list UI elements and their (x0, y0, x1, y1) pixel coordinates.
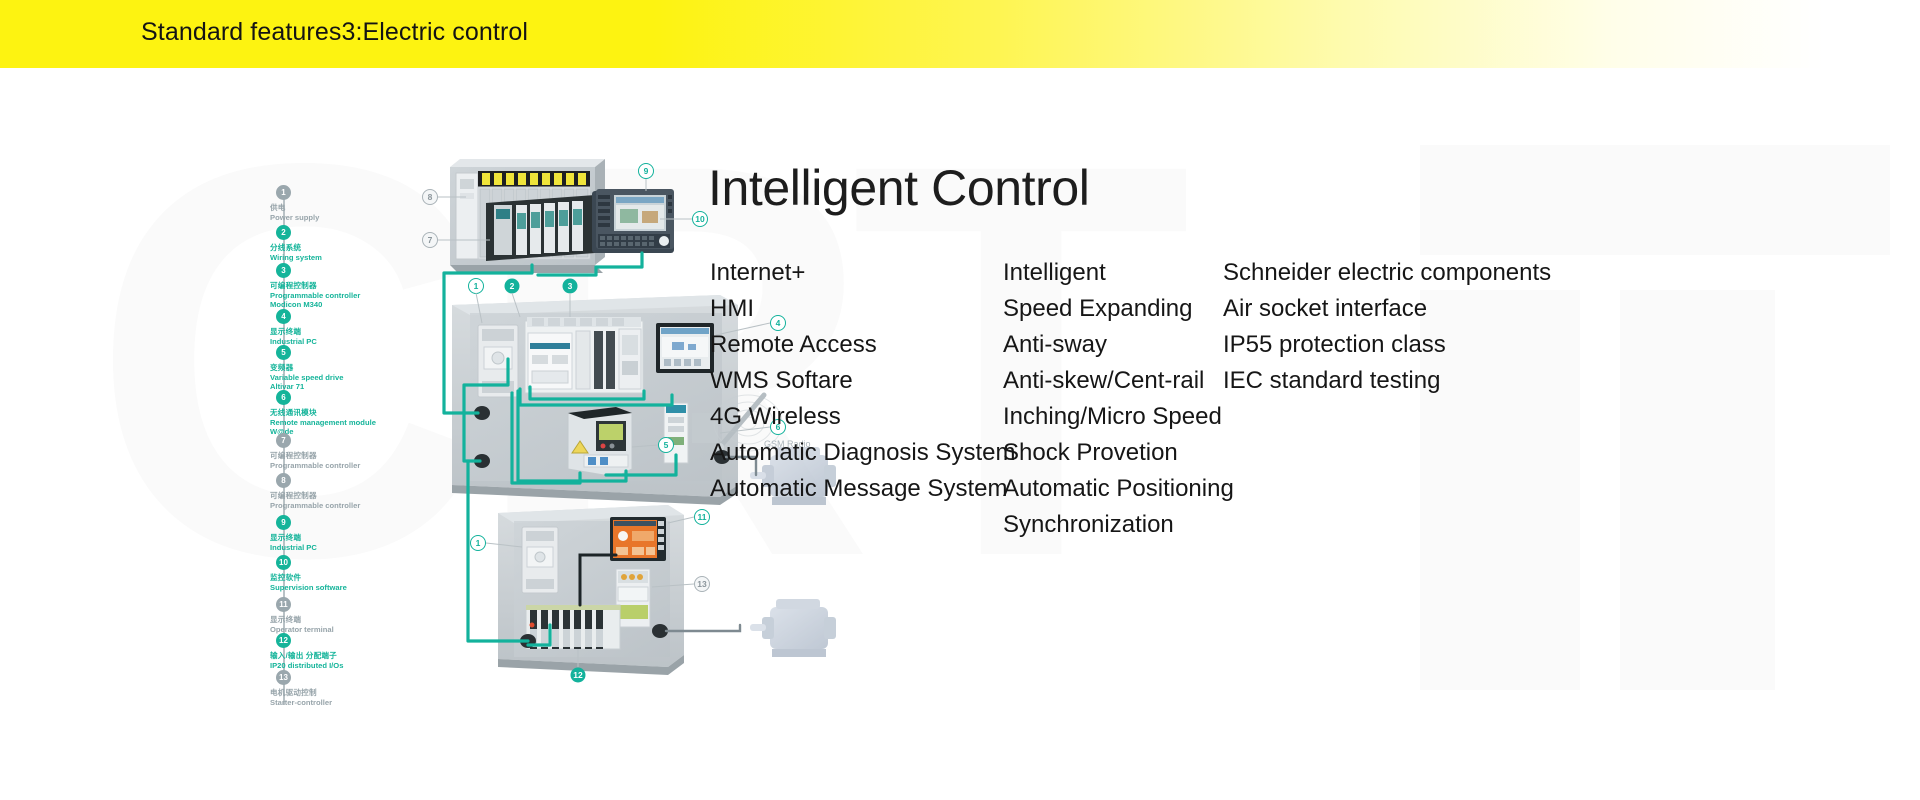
header-banner: Standard features3:Electric control (0, 0, 1920, 68)
legend-label-en: Starter-controller (270, 698, 332, 708)
legend-label-en: Wiring system (270, 253, 322, 263)
legend-label-en: Supervision software (270, 583, 347, 593)
legend-label-en: Programmable controller (270, 461, 360, 471)
feature-item: Internet+ (710, 255, 1010, 291)
page-title: Standard features3:Electric control (141, 18, 528, 47)
feature-item: WMS Softare (710, 363, 1010, 399)
content-pane: Intelligent Control Internet+HMIRemote A… (708, 160, 1918, 680)
svg-text:9: 9 (644, 166, 649, 176)
legend-item-12: 12输入/输出 分配端子IP20 distributed I/Os (270, 633, 343, 670)
legend-text: 分线系统Wiring system (270, 243, 322, 262)
legend-label-cn: 可编程控制器 (270, 281, 360, 291)
svg-text:10: 10 (695, 214, 705, 224)
legend-label-en: Industrial PC (270, 543, 317, 553)
legend-item-6: 6无线通讯模块Remote management moduleW@de (270, 390, 376, 437)
legend-text: 显示终端Operator terminal (270, 615, 334, 634)
feature-item: 4G Wireless (710, 399, 1010, 435)
svg-text:2: 2 (510, 281, 515, 291)
legend-number-5: 5 (276, 345, 291, 360)
legend-text: 监控软件Supervision software (270, 573, 347, 592)
legend-item-2: 2分线系统Wiring system (270, 225, 322, 262)
feature-item: Air socket interface (1223, 291, 1613, 327)
legend-number-1: 1 (276, 185, 291, 200)
legend-label-en: Remote management module (270, 418, 376, 428)
legend-number-2: 2 (276, 225, 291, 240)
legend-label-cn: 电机驱动控制 (270, 688, 332, 698)
feature-item: Automatic Positioning (1003, 471, 1273, 507)
feature-column-1: Internet+HMIRemote AccessWMS Softare4G W… (710, 255, 1010, 507)
feature-column-3: Schneider electric componentsAir socket … (1223, 255, 1613, 399)
svg-text:11: 11 (698, 512, 707, 522)
legend-text: 可编程控制器Programmable controller (270, 491, 360, 510)
legend-item-7: 7可编程控制器Programmable controller (270, 433, 360, 470)
top-operator-panel (592, 189, 674, 253)
svg-text:12: 12 (573, 670, 583, 680)
legend-item-1: 1供电Power supply (270, 185, 319, 222)
legend-number-3: 3 (276, 263, 291, 278)
legend-number-4: 4 (276, 309, 291, 324)
feature-item: HMI (710, 291, 1010, 327)
top-plc-rack (450, 159, 605, 273)
legend-item-8: 8可编程控制器Programmable controller (270, 473, 360, 510)
legend-text: 变频器Variable speed driveAltivar 71 (270, 363, 343, 392)
legend-number-12: 12 (276, 633, 291, 648)
legend-label-en: Power supply (270, 213, 319, 223)
legend-label-en: Programmable controller (270, 501, 360, 511)
legend-label-cn: 可编程控制器 (270, 491, 360, 501)
legend-number-10: 10 (276, 555, 291, 570)
legend-item-5: 5变频器Variable speed driveAltivar 71 (270, 345, 343, 392)
feature-item: Automatic Message System (710, 471, 1010, 507)
legend-label-en: Variable speed drive (270, 373, 343, 383)
legend-text: 输入/输出 分配端子IP20 distributed I/Os (270, 651, 343, 670)
feature-item: Synchronization (1003, 507, 1273, 543)
legend-number-9: 9 (276, 515, 291, 530)
feature-item: IEC standard testing (1223, 363, 1613, 399)
legend-label-cn: 可编程控制器 (270, 451, 360, 461)
legend-text: 供电Power supply (270, 203, 319, 222)
legend-text: 显示终端Industrial PC (270, 533, 317, 552)
main-heading: Intelligent Control (708, 160, 1090, 216)
legend-text: 电机驱动控制Starter-controller (270, 688, 332, 707)
svg-text:3: 3 (568, 281, 573, 291)
legend-number-11: 11 (276, 597, 291, 612)
feature-item: Remote Access (710, 327, 1010, 363)
callout-9: 9 (639, 164, 654, 192)
svg-text:7: 7 (428, 235, 433, 245)
legend-number-6: 6 (276, 390, 291, 405)
legend-item-4: 4显示终端Industrial PC (270, 309, 317, 346)
legend-item-13: 13电机驱动控制Starter-controller (270, 670, 332, 707)
legend-item-11: 11显示终端Operator terminal (270, 597, 334, 634)
legend-label-cn: 分线系统 (270, 243, 322, 253)
legend-label-cn: 供电 (270, 203, 319, 213)
feature-item: Schneider electric components (1223, 255, 1613, 291)
legend-label-cn: 输入/输出 分配端子 (270, 651, 343, 661)
svg-text:1: 1 (474, 281, 479, 291)
svg-text:5: 5 (664, 440, 669, 450)
feature-item: Automatic Diagnosis System (710, 435, 1010, 471)
legend-text: 可编程控制器Programmable controllerModicon M34… (270, 281, 360, 310)
feature-item: Inching/Micro Speed (1003, 399, 1273, 435)
feature-item: IP55 protection class (1223, 327, 1613, 363)
legend-number-7: 7 (276, 433, 291, 448)
legend-item-10: 10监控软件Supervision software (270, 555, 347, 592)
legend-label-cn: 显示终端 (270, 327, 317, 337)
feature-item: Shock Provetion (1003, 435, 1273, 471)
legend-label-cn: 监控软件 (270, 573, 347, 583)
legend-label-cn: 变频器 (270, 363, 343, 373)
legend-label-en: Programmable controller (270, 291, 360, 301)
legend-number-8: 8 (276, 473, 291, 488)
legend-item-9: 9显示终端Industrial PC (270, 515, 317, 552)
legend-label-cn: 无线通讯模块 (270, 408, 376, 418)
svg-text:8: 8 (428, 192, 433, 202)
legend-text: 可编程控制器Programmable controller (270, 451, 360, 470)
svg-text:13: 13 (697, 579, 707, 589)
legend-text: 显示终端Industrial PC (270, 327, 317, 346)
legend-label-cn: 显示终端 (270, 533, 317, 543)
legend-item-3: 3可编程控制器Programmable controllerModicon M3… (270, 263, 360, 310)
svg-text:1: 1 (476, 538, 481, 548)
legend-number-13: 13 (276, 670, 291, 685)
legend-label-cn: 显示终端 (270, 615, 334, 625)
lower-cabinet (498, 505, 684, 675)
legend-label-en: IP20 distributed I/Os (270, 661, 343, 671)
